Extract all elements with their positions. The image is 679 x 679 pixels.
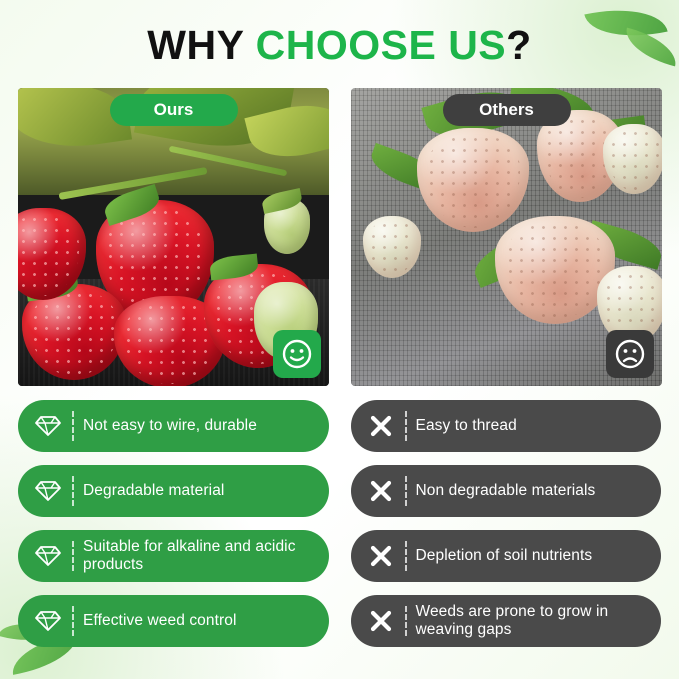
feature-text: Not easy to wire, durable [83, 417, 257, 435]
list-item: Effective weed control [18, 595, 329, 647]
frowning-face-icon [606, 330, 654, 378]
list-item: Depletion of soil nutrients [351, 530, 662, 582]
list-item: Weeds are prone to grow in weaving gaps [351, 595, 662, 647]
title-part-question: ? [506, 22, 532, 68]
diamond-icon [26, 609, 70, 633]
page-title: WHY CHOOSE US? [0, 22, 679, 69]
feature-text: Weeds are prone to grow in weaving gaps [416, 603, 652, 640]
list-item: Non degradable materials [351, 465, 662, 517]
feature-text: Effective weed control [83, 612, 237, 630]
others-feature-list: Easy to thread Non degradable materials [351, 400, 662, 647]
diamond-icon [26, 414, 70, 438]
list-item: Degradable material [18, 465, 329, 517]
row-divider [405, 606, 407, 636]
feature-text: Non degradable materials [416, 482, 596, 500]
row-divider [72, 606, 74, 636]
row-divider [405, 476, 407, 506]
ours-feature-list: Not easy to wire, durable Degradable mat… [18, 400, 329, 647]
cross-icon [359, 543, 403, 569]
row-divider [405, 411, 407, 441]
diamond-icon [26, 479, 70, 503]
ours-photo: Ours [18, 88, 329, 386]
row-divider [72, 541, 74, 571]
photo-columns: Ours [18, 88, 661, 386]
ours-column: Ours [18, 88, 329, 386]
others-photo: Others [351, 88, 662, 386]
cross-icon [359, 413, 403, 439]
list-item: Not easy to wire, durable [18, 400, 329, 452]
row-divider [72, 476, 74, 506]
feature-rows: Not easy to wire, durable Degradable mat… [18, 400, 661, 647]
row-divider [405, 541, 407, 571]
title-part-choose-us: CHOOSE US [256, 22, 507, 68]
ours-badge: Ours [110, 94, 238, 126]
comparison-poster: WHY CHOOSE US? [0, 0, 679, 679]
row-divider [72, 411, 74, 441]
smiley-face-icon [273, 330, 321, 378]
list-item: Easy to thread [351, 400, 662, 452]
diamond-icon [26, 544, 70, 568]
cross-icon [359, 608, 403, 634]
others-column: Others [351, 88, 662, 386]
others-badge: Others [443, 94, 571, 126]
feature-text: Easy to thread [416, 417, 517, 435]
feature-text: Suitable for alkaline and acidic product… [83, 538, 319, 575]
list-item: Suitable for alkaline and acidic product… [18, 530, 329, 582]
title-part-why: WHY [147, 22, 255, 68]
feature-text: Degradable material [83, 482, 224, 500]
feature-text: Depletion of soil nutrients [416, 547, 593, 565]
cross-icon [359, 478, 403, 504]
